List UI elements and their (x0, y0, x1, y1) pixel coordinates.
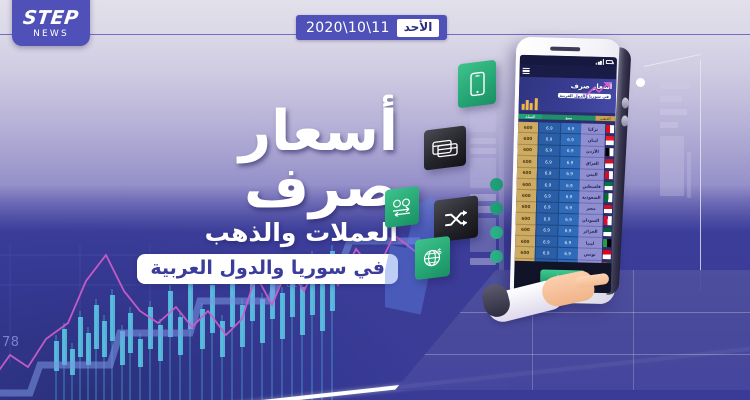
cell-rate-sell: 6.9 (559, 123, 581, 135)
flag-icon (602, 227, 612, 239)
flag-icon (605, 135, 615, 147)
cell-rate-sell: 6.9 (556, 248, 578, 260)
cell-rate-sell: 6.9 (557, 214, 579, 226)
rates-table-body: 6006.96.9تركيا6006.96.9لبنان6006.96.9الأ… (514, 122, 615, 273)
cell-gold: 600 (516, 213, 536, 225)
cell-rate-buy: 6.9 (535, 225, 557, 237)
cell-rate-buy: 6.9 (536, 179, 558, 191)
cell-rate-buy: 6.9 (537, 168, 559, 180)
globe-dollar-icon[interactable]: $ (415, 236, 450, 280)
flag-icon (603, 192, 613, 204)
logo-step-text: STEP (22, 9, 80, 28)
decor-frame-line (700, 60, 701, 290)
date-badge: 2020\10\11 الأحد (296, 15, 447, 40)
cell-rate-buy: 6.9 (535, 248, 557, 260)
cell-country: تركيا (581, 123, 605, 135)
cell-gold: 600 (517, 156, 537, 168)
flag-icon (605, 124, 615, 136)
cell-country: ليبيا (578, 237, 602, 249)
cell-country: العراق (580, 158, 604, 170)
hamburger-menu-icon[interactable] (523, 68, 530, 74)
date-value: 2020\10\11 (306, 20, 390, 36)
cell-gold: 600 (517, 145, 537, 157)
banner-trend-arrow-icon (585, 80, 612, 101)
cell-gold: 600 (516, 190, 536, 202)
cell-rate-buy: 6.9 (538, 122, 560, 134)
cell-rate-sell: 6.9 (558, 168, 580, 180)
cell-gold: 600 (515, 224, 535, 236)
shuffle-arrows-icon[interactable] (434, 195, 478, 242)
headline-pill: في سوريا والدول العربية (137, 254, 398, 284)
cell-country: فلسطين (579, 180, 603, 192)
cell-gold: 600 (515, 236, 535, 248)
app-banner: أسعار صرف في سوريا والدول العربية (519, 77, 617, 114)
chart-annotation-78: 78 (2, 335, 20, 350)
phone-screen: أسعار صرف في سوريا والدول العربية الذهب … (514, 55, 617, 293)
col-header-sell: مبيع (542, 114, 595, 120)
cell-country: تونس (578, 249, 602, 261)
dot-3 (490, 226, 503, 239)
col-header-currency: العملة (518, 114, 542, 120)
cell-country: لبنان (581, 135, 605, 147)
cell-rate-sell: 6.9 (559, 157, 581, 169)
cell-country: اليمن (580, 169, 604, 181)
currency-exchange-icon[interactable] (385, 186, 419, 228)
cell-gold: 600 (516, 179, 536, 191)
svg-text:$: $ (437, 247, 442, 257)
cell-rate-buy: 6.9 (535, 236, 557, 248)
flag-icon (602, 238, 612, 250)
cell-country: مصر (579, 203, 603, 215)
signal-icon (596, 59, 604, 65)
weekday-value: الأحد (397, 19, 440, 37)
flag-icon (603, 215, 613, 227)
cell-gold: 600 (515, 247, 535, 259)
banner-mini-bars (522, 98, 538, 110)
cell-rate-buy: 6.9 (536, 213, 558, 225)
smartphone-mockup[interactable]: أسعار صرف في سوريا والدول العربية الذهب … (510, 37, 622, 305)
pointing-hand (487, 268, 607, 330)
cell-rate-buy: 6.9 (536, 202, 558, 214)
flag-icon (603, 204, 613, 216)
col-header-gold: الذهب (595, 116, 615, 122)
headline-block: أسعار صرف العملات والذهب في سوريا والدول… (68, 104, 398, 284)
cell-gold: 600 (518, 122, 538, 134)
decor-right-bars (660, 72, 700, 202)
dot-1 (490, 178, 503, 191)
cell-rate-sell: 6.9 (558, 180, 580, 192)
cell-rate-sell: 6.9 (559, 146, 581, 158)
cell-gold: 600 (518, 133, 538, 145)
flag-icon (604, 147, 614, 159)
flag-icon (604, 170, 614, 182)
cell-gold: 600 (516, 201, 536, 213)
cell-country: الأردن (580, 146, 604, 158)
step-news-logo[interactable]: STEP NEWS (12, 0, 90, 46)
cell-rate-sell: 6.9 (557, 225, 579, 237)
phone-earpiece (550, 47, 580, 52)
flag-icon (604, 158, 614, 170)
logo-news-text: NEWS (33, 30, 69, 39)
cell-rate-buy: 6.9 (536, 191, 558, 203)
cell-country: السودان (579, 214, 603, 226)
cell-rate-sell: 6.9 (557, 203, 579, 215)
cell-rate-buy: 6.9 (538, 134, 560, 146)
headline-primary: أسعار صرف (68, 104, 398, 216)
dot-4 (490, 250, 503, 263)
headline-secondary: العملات والذهب (68, 218, 398, 247)
mobile-phone-icon[interactable] (458, 60, 496, 109)
cell-country: السعودية (579, 192, 603, 204)
cell-rate-buy: 6.9 (537, 145, 559, 157)
banner-canvas: 78 25 01 STEP NEWS 2020\10\11 الأحد أسعا… (0, 0, 750, 400)
credit-card-icon[interactable] (424, 125, 466, 170)
cell-rate-sell: 6.9 (558, 191, 580, 203)
battery-icon (606, 60, 613, 64)
cell-gold: 600 (517, 167, 537, 179)
flag-icon (602, 249, 612, 261)
cell-rate-sell: 6.9 (556, 237, 578, 249)
decor-pin-dot (636, 78, 645, 87)
cell-rate-sell: 6.9 (559, 134, 581, 146)
flag-icon (603, 181, 613, 193)
cell-country: الجزائر (578, 226, 602, 238)
dot-2 (490, 202, 503, 215)
cell-rate-buy: 6.9 (537, 156, 559, 168)
